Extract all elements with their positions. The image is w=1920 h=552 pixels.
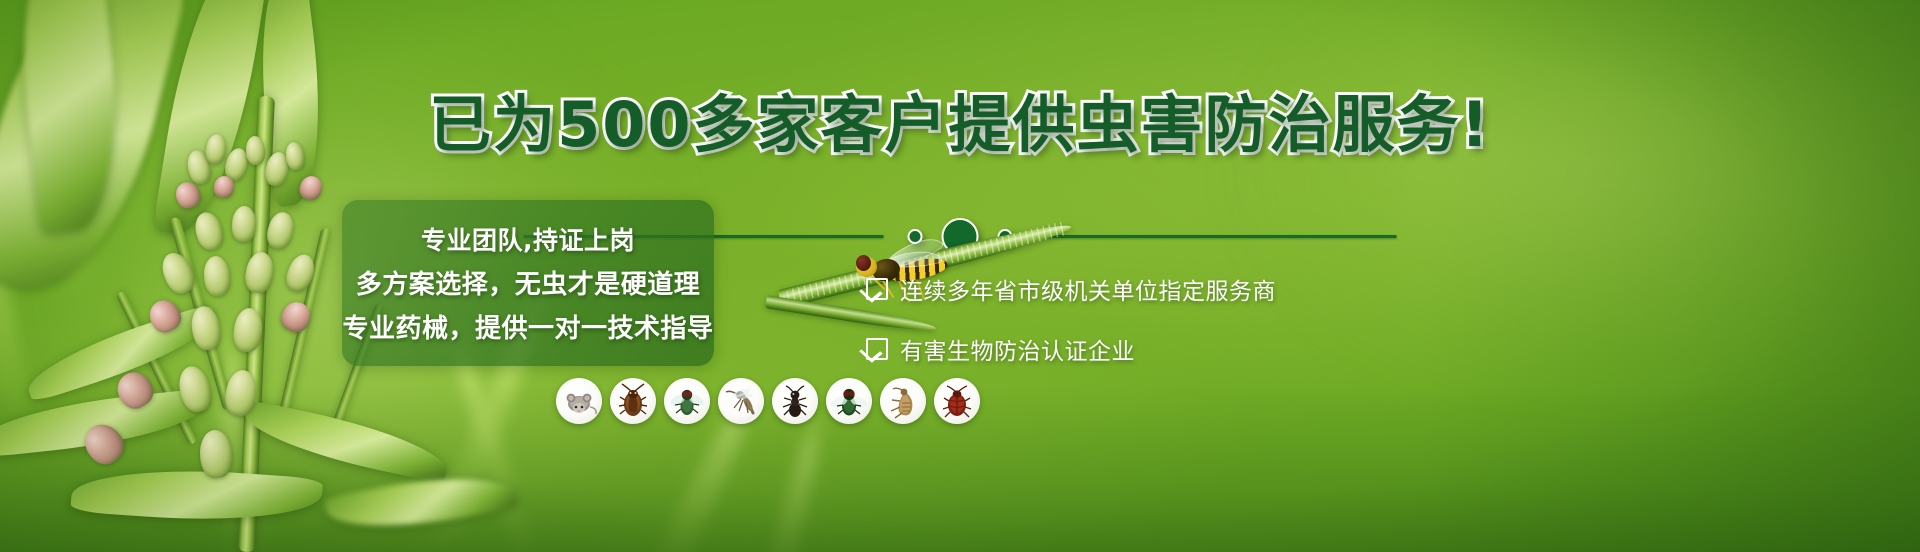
background-vignette [0,0,1920,552]
pest-control-hero-banner: 已为500多家客户提供虫害防治服务! 专业团队,持证上岗 多方案选择，无虫才是硬… [0,0,1920,552]
